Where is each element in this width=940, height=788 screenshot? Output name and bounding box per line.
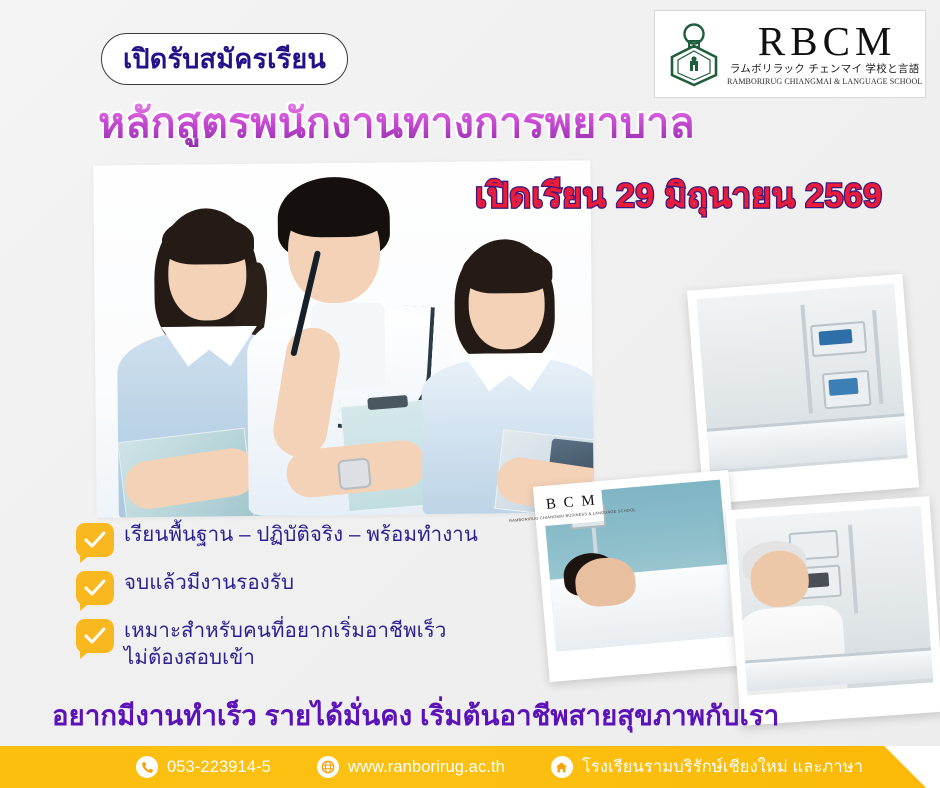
list-item: จบแล้วมีงานรองรับ bbox=[76, 569, 546, 605]
check-bubble-icon bbox=[76, 523, 114, 557]
closing-tagline: อยากมีงานทำเร็ว รายได้มั่นคง เริ่มต้นอาช… bbox=[52, 694, 779, 738]
bcm-watermark-label: B C M RAMBORIRUG CHIANGMAI BUSINESS & LA… bbox=[539, 487, 604, 526]
logo-brand-text: RBCM bbox=[753, 22, 897, 61]
home-icon bbox=[551, 756, 573, 778]
poster-canvas: RBCM ラムボリラック チェンマイ 学校と言語 RAMBORIRUG CHIA… bbox=[0, 0, 940, 788]
list-item: เหมาะสำหรับคนที่อยากเริ่มอาชีพเร็ว ไม่ต้… bbox=[76, 617, 546, 672]
polaroid-photo-elderly-patient bbox=[726, 496, 940, 726]
phone-icon bbox=[136, 756, 158, 778]
check-bubble-icon bbox=[76, 571, 114, 605]
check-bubble-icon bbox=[76, 619, 114, 653]
corner-fold-decoration bbox=[862, 746, 940, 788]
wristwatch-prop bbox=[337, 457, 372, 490]
website-url-text: www.ranborirug.ac.th bbox=[348, 758, 505, 777]
enrollment-badge-label: เปิดรับสมัครเรียน bbox=[123, 46, 326, 73]
student-figure-right bbox=[420, 234, 594, 514]
contact-website[interactable]: www.ranborirug.ac.th bbox=[317, 756, 505, 778]
logo-english-text: RAMBORIRUG CHIANGMAI & LANGUAGE SCHOOL bbox=[727, 77, 922, 86]
logo-japanese-text: ラムボリラック チェンマイ 学校と言語 bbox=[730, 61, 920, 76]
benefit-text: จบแล้วมีงานรองรับ bbox=[124, 569, 294, 596]
phone-number-text: 053-223914-5 bbox=[167, 758, 271, 777]
start-date-text: เปิดเรียน 29 มิถุนายน 2569 bbox=[475, 168, 882, 222]
benefit-text: เหมาะสำหรับคนที่อยากเริ่มอาชีพเร็ว ไม่ต้… bbox=[124, 617, 447, 672]
enrollment-badge: เปิดรับสมัครเรียน bbox=[101, 33, 348, 85]
polaroid-photo-nurse-patient: B C M RAMBORIRUG CHIANGMAI BUSINESS & LA… bbox=[533, 470, 745, 682]
hexagon-lamp-emblem-icon bbox=[663, 21, 725, 87]
globe-icon bbox=[317, 756, 339, 778]
benefits-list: เรียนพื้นฐาน – ปฏิบัติจริง – พร้อมทำงาน … bbox=[76, 521, 546, 684]
list-item: เรียนพื้นฐาน – ปฏิบัติจริง – พร้อมทำงาน bbox=[76, 521, 546, 557]
contact-school-name[interactable]: โรงเรียนรามบริรักษ์เชียงใหม่ และภาษา bbox=[551, 754, 863, 780]
bcm-watermark-text: B C M bbox=[545, 493, 597, 512]
contact-footer-bar: 053-223914-5 www.ranborirug.ac.th โรงเรี… bbox=[0, 746, 940, 788]
contact-phone[interactable]: 053-223914-5 bbox=[136, 756, 271, 778]
school-logo-card: RBCM ラムボリラック チェンマイ 学校と言語 RAMBORIRUG CHIA… bbox=[654, 10, 926, 98]
benefit-text: เรียนพื้นฐาน – ปฏิบัติจริง – พร้อมทำงาน bbox=[124, 521, 478, 548]
school-name-text: โรงเรียนรามบริรักษ์เชียงใหม่ และภาษา bbox=[582, 754, 863, 780]
page-title: หลักสูตรพนักงานทางการพยาบาล bbox=[98, 101, 695, 147]
